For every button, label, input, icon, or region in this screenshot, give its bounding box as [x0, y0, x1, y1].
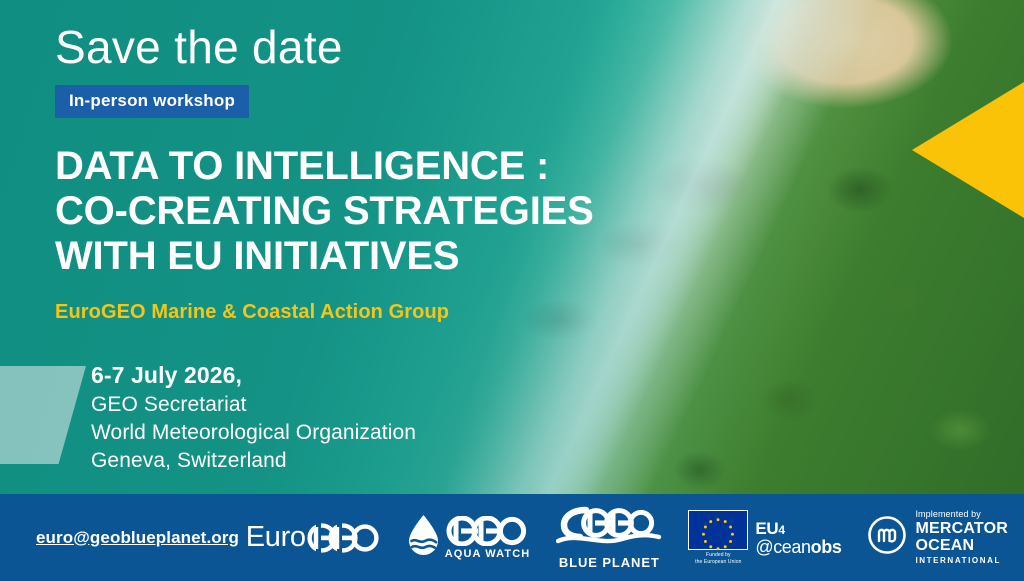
save-the-date-poster: Save the date In-person workshop DATA TO…: [0, 0, 1024, 581]
blue-planet-sub-label: BLUE PLANET: [559, 556, 660, 569]
venue-line-3: Geneva, Switzerland: [91, 447, 755, 475]
mercator-m-circle-icon: [867, 515, 907, 560]
partner-logos: Euro: [239, 506, 1024, 569]
venue-line-1: GEO Secretariat: [91, 391, 755, 419]
mercator-wordmark: Implemented by MERCATOR OCEAN INTERNATIO…: [915, 510, 1008, 565]
ocean-text: cean: [773, 537, 810, 557]
eu-funding-emblem: Funded by the European Union: [688, 510, 748, 565]
oceanobs-text: @ceanobs: [755, 538, 841, 556]
event-date: 6-7 July 2026,: [91, 360, 755, 391]
save-the-date-heading: Save the date: [55, 22, 755, 73]
eu-funding-caption: Funded by the European Union: [695, 552, 741, 565]
eu4oceanobs-logo: Funded by the European Union EU4 @ceanob…: [688, 510, 841, 565]
aquawatch-wordmark: AQUA WATCH: [445, 516, 531, 560]
page-title: DATA TO INTELLIGENCE : CO-CREATING STRAT…: [55, 144, 755, 280]
eu4oceanobs-wordmark: EU4 @ceanobs: [755, 520, 841, 556]
page-title-line-2: CO-CREATING STRATEGIES: [55, 189, 755, 234]
water-droplet-icon: [407, 514, 440, 561]
eu4-text: EU4: [755, 520, 841, 537]
contact-email-link[interactable]: euro@geoblueplanet.org: [36, 528, 239, 548]
workshop-type-badge: In-person workshop: [55, 85, 249, 118]
four-text: 4: [778, 523, 784, 537]
geo-blue-planet-wave-icon: [556, 506, 662, 552]
hero-content: Save the date In-person workshop DATA TO…: [55, 0, 755, 475]
eurogeo-logo-euro-text: Euro: [246, 521, 306, 554]
mercator-name-line-3: INTERNATIONAL: [915, 557, 1008, 565]
obs-text: obs: [811, 537, 842, 557]
eu-funding-caption-line-1: Funded by: [706, 552, 731, 558]
footer-bar: euro@geoblueplanet.org Euro: [0, 494, 1024, 581]
geo-blue-planet-logo: BLUE PLANET: [556, 506, 662, 569]
mercator-ocean-logo: Implemented by MERCATOR OCEAN INTERNATIO…: [867, 510, 1008, 565]
page-title-line-1: DATA TO INTELLIGENCE :: [55, 144, 755, 189]
aquawatch-sub-label: AQUA WATCH: [445, 549, 531, 560]
action-group-subtitle: EuroGEO Marine & Coastal Action Group: [55, 301, 755, 324]
geo-interlocked-rings-icon: [446, 516, 530, 546]
mercator-name-line-1: MERCATOR: [915, 521, 1008, 538]
event-details: 6-7 July 2026, GEO Secretariat World Met…: [91, 360, 755, 475]
geo-aquawatch-logo: AQUA WATCH: [407, 514, 531, 561]
eurogeo-logo: Euro: [246, 521, 381, 554]
mercator-name-line-2: OCEAN: [915, 538, 1008, 555]
eu-text: EU: [755, 519, 778, 538]
eu-funding-caption-line-2: the European Union: [695, 559, 741, 565]
page-title-line-3: WITH EU INITIATIVES: [55, 234, 755, 279]
geo-interlocked-rings-icon: [307, 523, 381, 553]
european-union-flag-icon: [688, 510, 748, 550]
implemented-by-label: Implemented by: [915, 510, 1008, 519]
venue-line-2: World Meteorological Organization: [91, 419, 755, 447]
